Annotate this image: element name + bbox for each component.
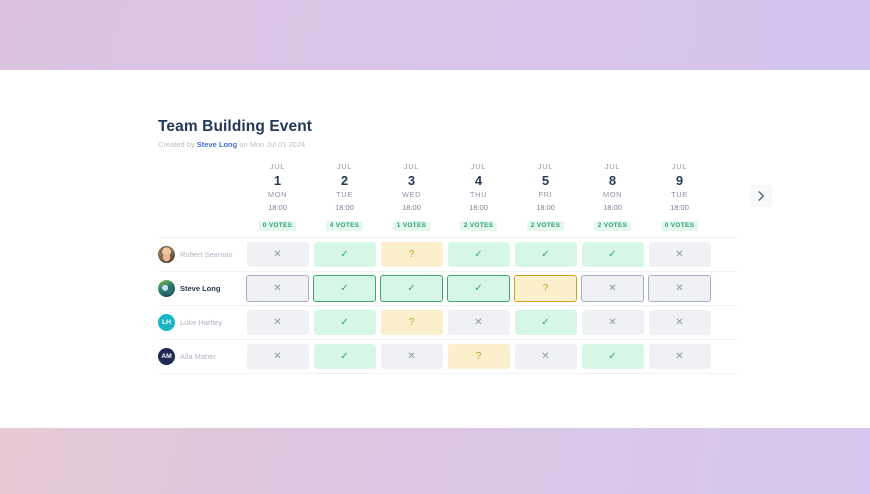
vote-cell-wrap: ?	[378, 238, 445, 271]
date-day: 2	[311, 173, 378, 188]
next-week-button[interactable]	[750, 185, 772, 207]
vote-cell-no[interactable]: ✕	[246, 275, 309, 302]
schedule-table: JUL1MON18:000 VOTESJUL2TUE18:004 VOTESJU…	[158, 161, 738, 374]
chevron-right-icon	[758, 191, 765, 201]
vote-cell-wrap: ✕	[579, 306, 646, 339]
vote-cell-wrap: ✕	[445, 306, 512, 339]
vote-count-badge: 2 VOTES	[527, 221, 565, 231]
date-month: JUL	[311, 161, 378, 173]
avatar: LH	[158, 314, 175, 331]
vote-cell-wrap: ?	[512, 272, 579, 305]
date-weekday: MON	[579, 188, 646, 201]
date-month: JUL	[646, 161, 713, 173]
vote-cell-wrap: ✓	[311, 306, 378, 339]
vote-cell-yes[interactable]: ✓	[313, 275, 376, 302]
vote-cell-no[interactable]: ✕	[649, 310, 711, 335]
created-suffix: on Mon Jul 01 2024	[239, 140, 305, 149]
date-day: 5	[512, 173, 579, 188]
vote-cell-maybe[interactable]: ?	[381, 310, 443, 335]
vote-cell-yes[interactable]: ✓	[314, 242, 376, 267]
vote-count-badge: 4 VOTES	[326, 221, 364, 231]
vote-count-badge: 0 VOTES	[661, 221, 699, 231]
date-column-header[interactable]: JUL1MON18:000 VOTES	[244, 161, 311, 237]
vote-cell-wrap: ✕	[512, 340, 579, 373]
avatar	[158, 246, 175, 263]
date-weekday: THU	[445, 188, 512, 201]
vote-cell-wrap: ✕	[244, 272, 311, 305]
date-month: JUL	[512, 161, 579, 173]
vote-cell-wrap: ✓	[311, 238, 378, 271]
participant-cell: Steve Long	[158, 272, 244, 305]
row-divider	[158, 373, 738, 374]
vote-cell-maybe[interactable]: ?	[381, 242, 443, 267]
vote-cell-yes[interactable]: ✓	[515, 310, 577, 335]
date-month: JUL	[579, 161, 646, 173]
vote-cell-yes[interactable]: ✓	[582, 344, 644, 369]
vote-cell-wrap: ✓	[579, 340, 646, 373]
vote-cell-yes[interactable]: ✓	[447, 275, 510, 302]
date-column-header[interactable]: JUL9TUE18:000 VOTES	[646, 161, 713, 237]
schedule-body: Robert Seaman✕✓?✓✓✓✕Steve Long✕✓✓✓?✕✕LHL…	[158, 238, 738, 374]
vote-cell-no[interactable]: ✕	[649, 344, 711, 369]
vote-cell-no[interactable]: ✕	[448, 310, 510, 335]
vote-cell-no[interactable]: ✕	[247, 310, 309, 335]
vote-cell-wrap: ?	[445, 340, 512, 373]
vote-cell-yes[interactable]: ✓	[380, 275, 443, 302]
date-column-header[interactable]: JUL2TUE18:004 VOTES	[311, 161, 378, 237]
page-surface: Team Building Event Created by Steve Lon…	[0, 70, 870, 428]
date-column-header[interactable]: JUL4THU18:002 VOTES	[445, 161, 512, 237]
date-day: 3	[378, 173, 445, 188]
table-row: Steve Long✕✓✓✓?✕✕	[158, 272, 738, 305]
vote-cell-yes[interactable]: ✓	[314, 310, 376, 335]
schedule-header-row: JUL1MON18:000 VOTESJUL2TUE18:004 VOTESJU…	[158, 161, 738, 237]
vote-cell-wrap: ✓	[512, 238, 579, 271]
vote-cell-yes[interactable]: ✓	[582, 242, 644, 267]
vote-cell-wrap: ?	[378, 306, 445, 339]
participant-name: Steve Long	[180, 284, 220, 293]
vote-cell-wrap: ✕	[646, 340, 713, 373]
date-column-header[interactable]: JUL3WED18:001 VOTES	[378, 161, 445, 237]
vote-cell-wrap: ✓	[311, 340, 378, 373]
vote-cell-wrap: ✕	[378, 340, 445, 373]
vote-cell-wrap: ✓	[512, 306, 579, 339]
date-time: 18:00	[378, 201, 445, 214]
vote-cell-wrap: ✕	[244, 306, 311, 339]
date-time: 18:00	[512, 201, 579, 214]
poll-card: Team Building Event Created by Steve Lon…	[158, 118, 738, 374]
vote-cell-no[interactable]: ✕	[582, 310, 644, 335]
date-time: 18:00	[579, 201, 646, 214]
vote-cell-maybe[interactable]: ?	[514, 275, 577, 302]
date-weekday: WED	[378, 188, 445, 201]
vote-count-badge: 2 VOTES	[460, 221, 498, 231]
date-day: 9	[646, 173, 713, 188]
table-row: Robert Seaman✕✓?✓✓✓✕	[158, 238, 738, 271]
participant-cell: AMAlla Maher	[158, 340, 244, 373]
date-weekday: TUE	[646, 188, 713, 201]
date-time: 18:00	[445, 201, 512, 214]
participant-name: Robert Seaman	[180, 250, 233, 259]
vote-cell-wrap: ✕	[244, 340, 311, 373]
decorative-bottom-band	[0, 428, 870, 494]
date-weekday: TUE	[311, 188, 378, 201]
vote-cell-no[interactable]: ✕	[247, 242, 309, 267]
vote-cell-no[interactable]: ✕	[247, 344, 309, 369]
vote-cell-wrap: ✓	[311, 272, 378, 305]
vote-count-badge: 0 VOTES	[259, 221, 297, 231]
vote-cell-no[interactable]: ✕	[381, 344, 443, 369]
vote-cell-maybe[interactable]: ?	[448, 344, 510, 369]
date-column-header[interactable]: JUL8MON18:002 VOTES	[579, 161, 646, 237]
participant-cell: LHLuke Hartley	[158, 306, 244, 339]
header-corner-spacer	[158, 161, 244, 237]
vote-cell-wrap: ✓	[445, 238, 512, 271]
table-row: LHLuke Hartley✕✓?✕✓✕✕	[158, 306, 738, 339]
created-by-line: Created by Steve Long on Mon Jul 01 2024	[158, 140, 738, 149]
vote-cell-yes[interactable]: ✓	[314, 344, 376, 369]
vote-cell-wrap: ✕	[646, 306, 713, 339]
page-title: Team Building Event	[158, 118, 738, 136]
vote-cell-wrap: ✕	[646, 238, 713, 271]
participant-name: Alla Maher	[180, 352, 216, 361]
date-time: 18:00	[244, 201, 311, 214]
date-time: 18:00	[646, 201, 713, 214]
created-author-link[interactable]: Steve Long	[197, 140, 237, 149]
vote-cell-wrap: ✓	[579, 238, 646, 271]
created-prefix: Created by	[158, 140, 195, 149]
date-time: 18:00	[311, 201, 378, 214]
participant-cell: Robert Seaman	[158, 238, 244, 271]
date-month: JUL	[445, 161, 512, 173]
date-weekday: MON	[244, 188, 311, 201]
vote-count-badge: 2 VOTES	[594, 221, 632, 231]
date-day: 8	[579, 173, 646, 188]
vote-cell-no[interactable]: ✕	[515, 344, 577, 369]
date-month: JUL	[244, 161, 311, 173]
vote-cell-yes[interactable]: ✓	[448, 242, 510, 267]
vote-cell-wrap: ✕	[244, 238, 311, 271]
vote-cell-no[interactable]: ✕	[649, 242, 711, 267]
vote-count-badge: 1 VOTES	[393, 221, 431, 231]
vote-cell-wrap: ✓	[378, 272, 445, 305]
table-row: AMAlla Maher✕✓✕?✕✓✕	[158, 340, 738, 373]
date-column-header[interactable]: JUL5FRI18:002 VOTES	[512, 161, 579, 237]
vote-cell-wrap: ✕	[646, 272, 713, 305]
decorative-top-band	[0, 0, 870, 70]
vote-cell-wrap: ✓	[445, 272, 512, 305]
avatar: AM	[158, 348, 175, 365]
date-day: 4	[445, 173, 512, 188]
date-weekday: FRI	[512, 188, 579, 201]
vote-cell-wrap: ✕	[579, 272, 646, 305]
vote-cell-yes[interactable]: ✓	[515, 242, 577, 267]
date-day: 1	[244, 173, 311, 188]
vote-cell-no[interactable]: ✕	[581, 275, 644, 302]
avatar	[158, 280, 175, 297]
vote-cell-no[interactable]: ✕	[648, 275, 711, 302]
date-month: JUL	[378, 161, 445, 173]
participant-name: Luke Hartley	[180, 318, 222, 327]
